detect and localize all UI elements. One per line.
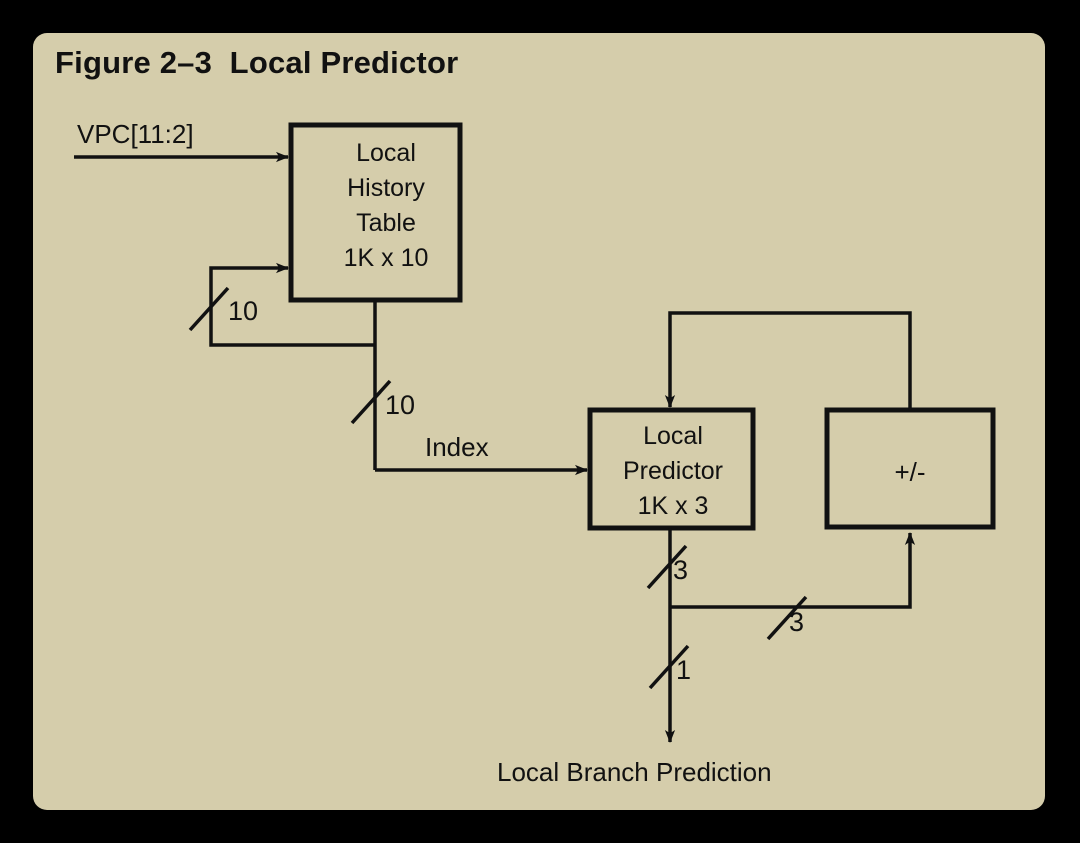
bit-width-history-feedback: 10 xyxy=(228,296,258,327)
figure-canvas: Figure 2–3 Local Predictor xyxy=(0,0,1080,843)
wire-label-output: Local Branch Prediction xyxy=(497,757,772,788)
bit-tick-history-feedback xyxy=(190,288,228,330)
bit-width-prediction: 1 xyxy=(676,655,691,686)
wire-label-vpc-input: VPC[11:2] xyxy=(77,119,194,150)
block-label-local-history-table: Local History Table 1K x 10 xyxy=(311,136,461,276)
wire-label-index: Index xyxy=(425,432,489,463)
block-label-local-predictor: Local Predictor 1K x 3 xyxy=(598,419,748,524)
wire-plusminus-feedback xyxy=(670,313,910,410)
block-label-plus-minus: +/- xyxy=(827,455,993,490)
bit-width-update-path: 3 xyxy=(789,607,804,638)
bit-width-index: 10 xyxy=(385,390,415,421)
bit-width-predictor-output: 3 xyxy=(673,555,688,586)
wire-update-path xyxy=(670,533,910,607)
